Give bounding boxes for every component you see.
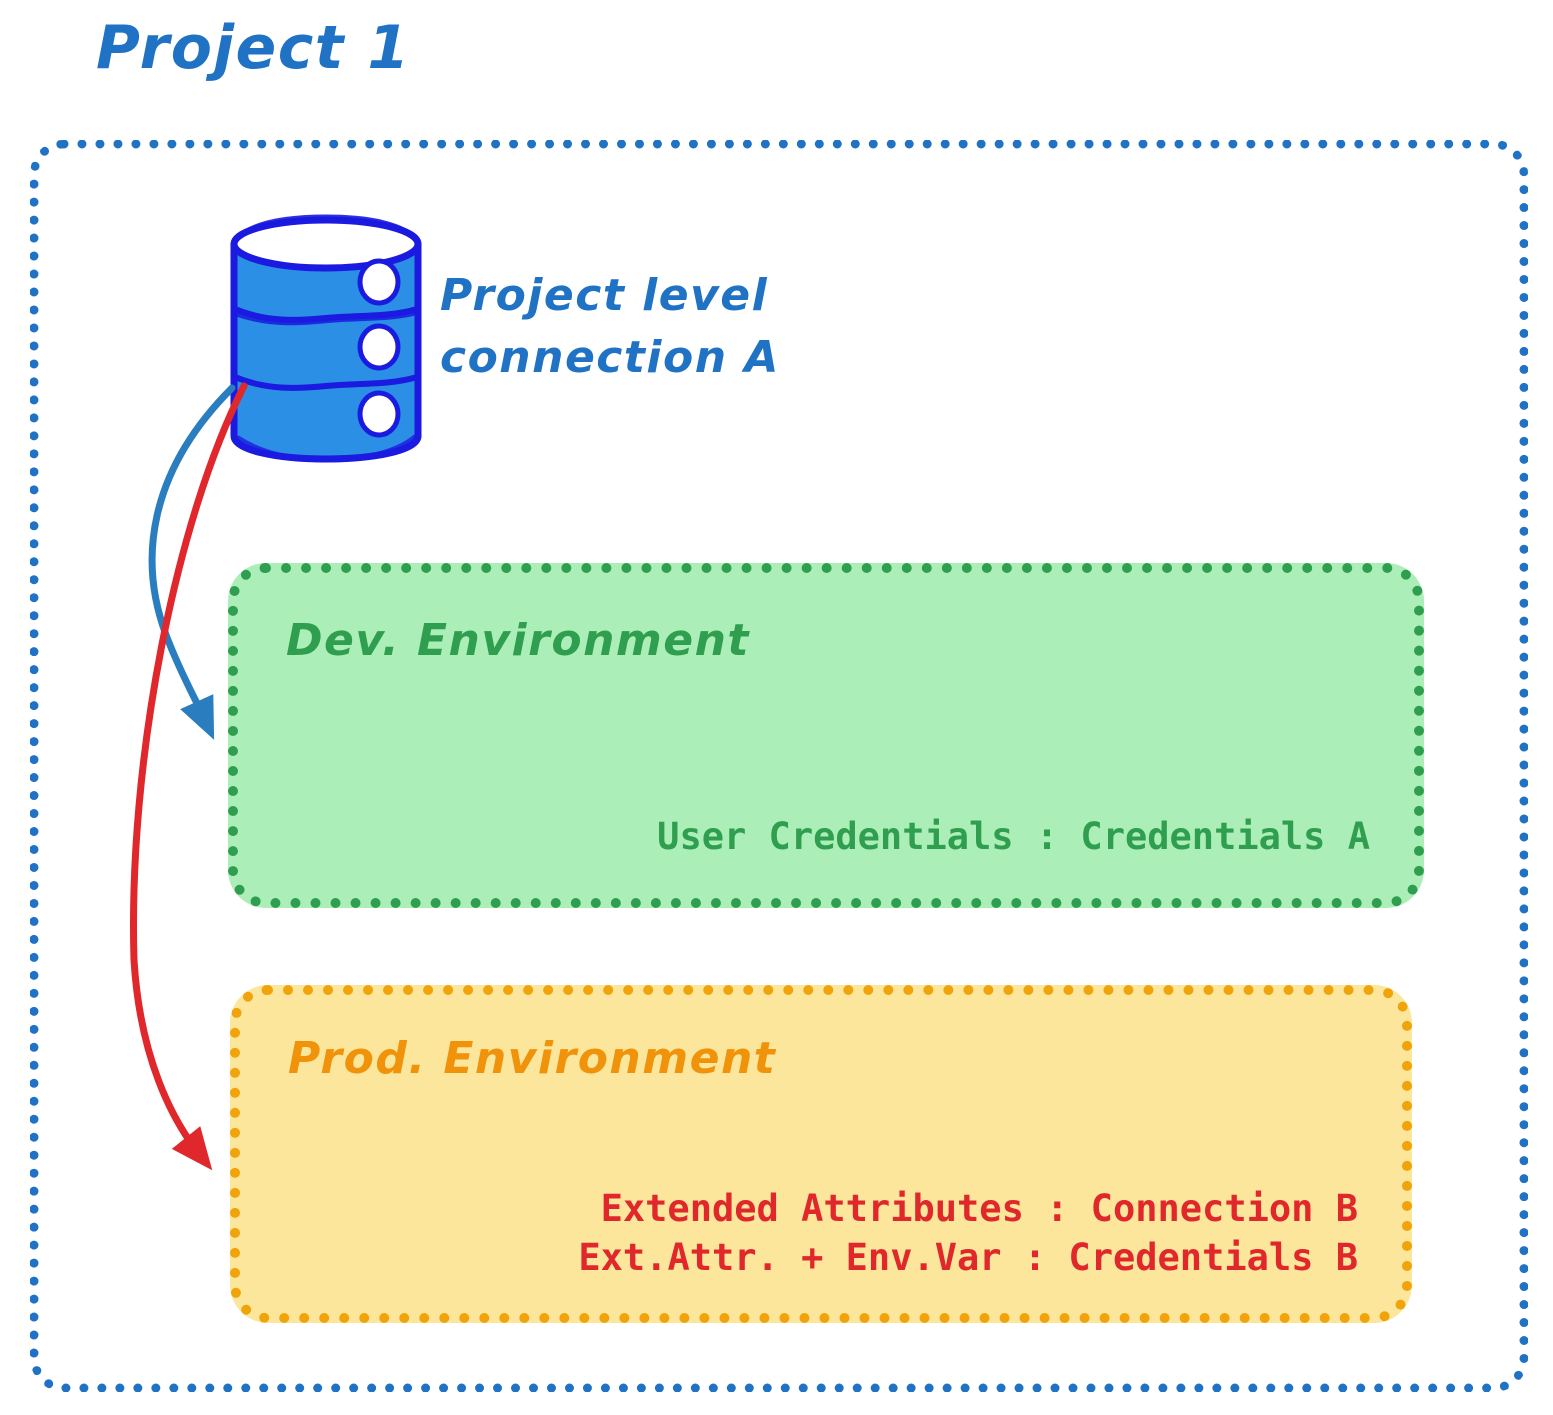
database-label-line2: connection A (440, 327, 780, 389)
dev-detail-line-1: User Credentials : Credentials A (657, 813, 1370, 862)
diagram-canvas: Project 1 Project level connection A De (0, 0, 1553, 1415)
page-title: Project 1 (96, 18, 411, 78)
database-cylinder-svg (226, 214, 426, 464)
prod-detail-line-1: Extended Attributes : Connection B (578, 1185, 1358, 1234)
prod-environment-box[interactable]: Prod. Environment Extended Attributes : … (230, 985, 1412, 1323)
dev-environment-box[interactable]: Dev. Environment User Credentials : Cred… (228, 563, 1424, 908)
prod-environment-title: Prod. Environment (288, 1037, 776, 1081)
prod-environment-details: Extended Attributes : Connection B Ext.A… (578, 1185, 1358, 1283)
database-cylinder-icon[interactable] (226, 214, 426, 464)
dev-environment-title: Dev. Environment (286, 619, 750, 663)
prod-detail-line-2: Ext.Attr. + Env.Var : Credentials B (578, 1234, 1358, 1283)
database-label-line1: Project level (440, 265, 780, 327)
dev-environment-details: User Credentials : Credentials A (657, 813, 1370, 862)
database-label: Project level connection A (440, 265, 780, 390)
